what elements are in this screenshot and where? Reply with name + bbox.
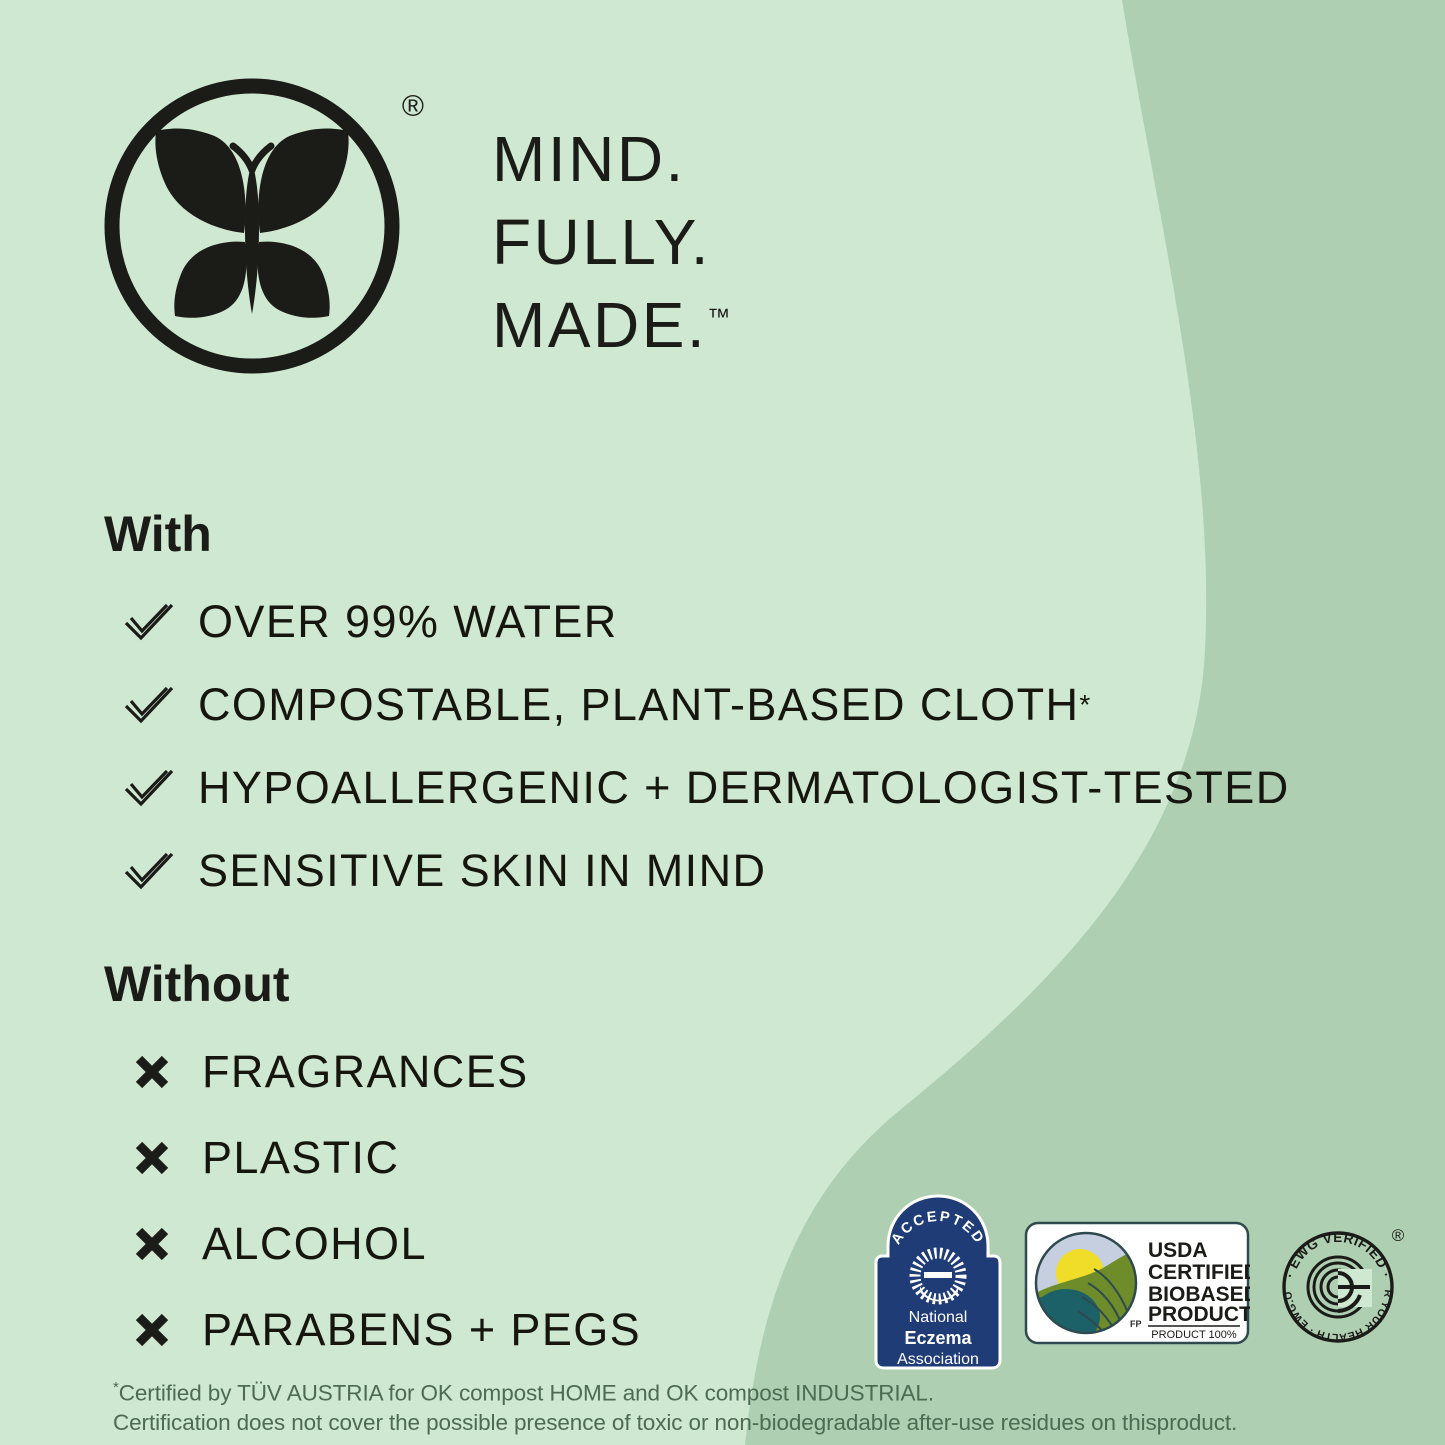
tagline-line-1: MIND.: [492, 118, 731, 201]
ewg-registered-mark-icon: ®: [1392, 1226, 1405, 1245]
footnote-line-1-text: Certified by TÜV AUSTRIA for OK compost …: [119, 1381, 934, 1406]
ewg-verified-seal-icon: · EWG VERIFIED · FOR YOUR HEALTH · EWG.O…: [1276, 1217, 1408, 1349]
brand-tagline: MIND. FULLY. MADE.™: [492, 118, 731, 368]
without-section: Without FRAGRANCES: [104, 955, 641, 1352]
with-item-label: SENSITIVE SKIN IN MIND: [198, 848, 766, 893]
tagline-line-3: MADE.™: [492, 284, 731, 367]
check-icon: [122, 849, 176, 893]
footnote-line-2: Certification does not cover the possibl…: [113, 1408, 1237, 1438]
trademark-icon: ™: [707, 304, 731, 330]
without-list: FRAGRANCES PLASTIC: [104, 1049, 641, 1352]
footnote-line-1: *Certified by TÜV AUSTRIA for OK compost…: [113, 1378, 1237, 1408]
with-section: With OVER 99% WATER: [104, 505, 1290, 893]
x-icon: [132, 1138, 172, 1178]
without-heading: Without: [104, 955, 641, 1013]
tagline-line-2: FULLY.: [492, 201, 731, 284]
usda-line-4: PRODUCT: [1148, 1303, 1250, 1326]
brand-logo-lockup: ® MIND. FULLY. MADE.™: [96, 70, 731, 382]
x-icon: [132, 1224, 172, 1264]
with-item-label: OVER 99% WATER: [198, 599, 618, 644]
list-item: HYPOALLERGENIC + DERMATOLOGIST-TESTED: [104, 765, 1290, 810]
butterfly-in-circle-logo-icon: ®: [96, 70, 408, 382]
usda-biobased-seal-icon: FP USDA CERTIFIED BIOBASED PRODUCT PRODU…: [1024, 1221, 1250, 1345]
registered-trademark-icon: ®: [402, 92, 424, 122]
without-item-label: PLASTIC: [202, 1135, 399, 1180]
footnote: *Certified by TÜV AUSTRIA for OK compost…: [113, 1378, 1237, 1438]
nea-line-2: Eczema: [904, 1328, 972, 1348]
check-icon: [122, 766, 176, 810]
nea-line-3: Association: [897, 1351, 979, 1368]
usda-corner-mark: FP: [1130, 1319, 1142, 1329]
tagline-line-3-text: MADE.: [492, 289, 707, 361]
usda-line-1: USDA: [1148, 1239, 1208, 1262]
with-heading: With: [104, 505, 1290, 563]
nea-accepted-seal-icon: ACCEPTED National Eczema Association: [874, 1194, 1002, 1372]
list-item: FRAGRANCES: [104, 1049, 641, 1094]
without-item-label: PARABENS + PEGS: [202, 1307, 641, 1352]
nea-line-1: National: [909, 1309, 968, 1326]
with-item-label: COMPOSTABLE, PLANT-BASED CLOTH: [198, 682, 1079, 727]
usda-line-2: CERTIFIED: [1148, 1261, 1250, 1284]
check-icon: [122, 683, 176, 727]
without-item-label: ALCOHOL: [202, 1221, 427, 1266]
without-item-label: FRAGRANCES: [202, 1049, 529, 1094]
list-item: OVER 99% WATER: [104, 599, 1290, 644]
list-item: PARABENS + PEGS: [104, 1307, 641, 1352]
infographic-canvas: ® MIND. FULLY. MADE.™ With: [0, 0, 1445, 1445]
usda-subline: PRODUCT 100%: [1151, 1329, 1237, 1341]
x-icon: [132, 1052, 172, 1092]
list-item: COMPOSTABLE, PLANT-BASED CLOTH*: [104, 682, 1290, 727]
usda-certified-biobased-product-badge: FP USDA CERTIFIED BIOBASED PRODUCT PRODU…: [1024, 1221, 1250, 1345]
certification-badges: ACCEPTED National Eczema Association: [874, 1194, 1408, 1372]
national-eczema-association-badge: ACCEPTED National Eczema Association: [874, 1194, 1002, 1372]
list-item: SENSITIVE SKIN IN MIND: [104, 848, 1290, 893]
list-item: PLASTIC: [104, 1135, 641, 1180]
ewg-verified-badge: · EWG VERIFIED · FOR YOUR HEALTH · EWG.O…: [1276, 1217, 1408, 1349]
with-item-label: HYPOALLERGENIC + DERMATOLOGIST-TESTED: [198, 765, 1290, 810]
list-item: ALCOHOL: [104, 1221, 641, 1266]
check-icon: [122, 600, 176, 644]
with-list: OVER 99% WATER COMPOSTABLE, PLANT-BASED …: [104, 599, 1290, 893]
x-icon: [132, 1310, 172, 1350]
